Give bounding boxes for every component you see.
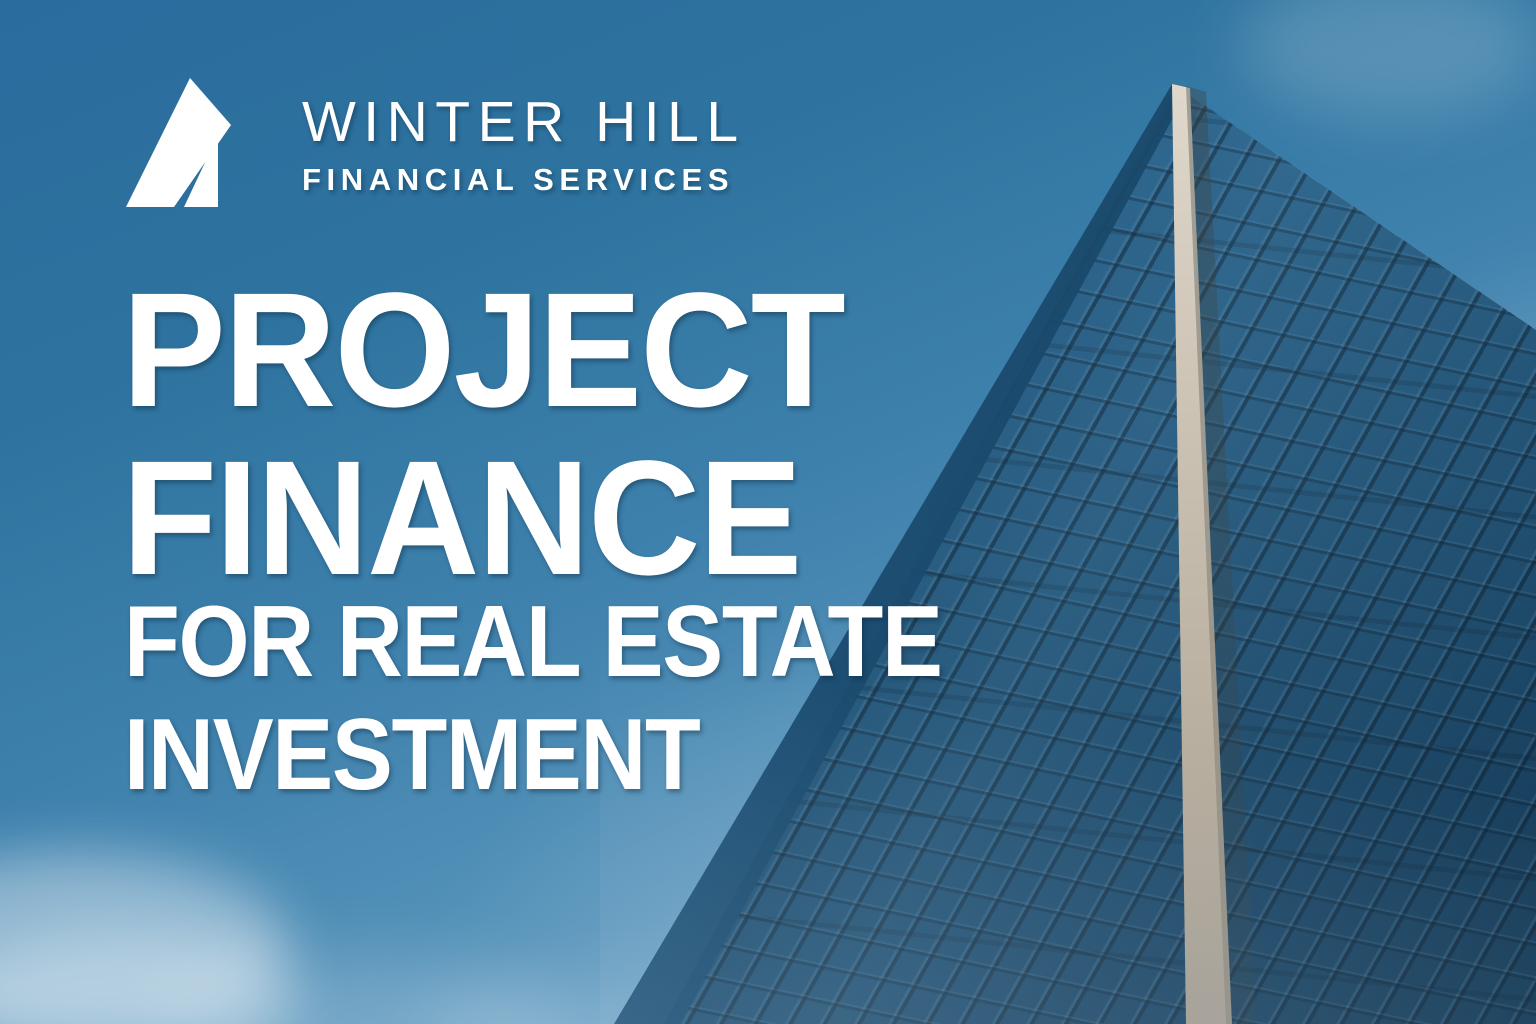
brand-name: WINTER HILL [302, 94, 746, 151]
headline-line-2: FINANCE [122, 440, 982, 596]
headline-block: PROJECT FINANCE [122, 272, 1022, 597]
headline-line-1: PROJECT [122, 272, 982, 428]
winter-hill-a-mark-icon [126, 78, 246, 218]
subheadline-line-2: INVESTMENT [124, 705, 993, 806]
brand-wordmark: WINTER HILL FINANCIAL SERVICES [302, 94, 746, 195]
subheadline-block: FOR REAL ESTATE INVESTMENT [124, 592, 1084, 806]
subheadline-line-1: FOR REAL ESTATE [124, 592, 993, 693]
brand-tagline: FINANCIAL SERVICES [302, 164, 746, 195]
marketing-banner: WINTER HILL FINANCIAL SERVICES PROJECT F… [0, 0, 1536, 1024]
brand-lockup[interactable]: WINTER HILL FINANCIAL SERVICES [126, 78, 786, 218]
